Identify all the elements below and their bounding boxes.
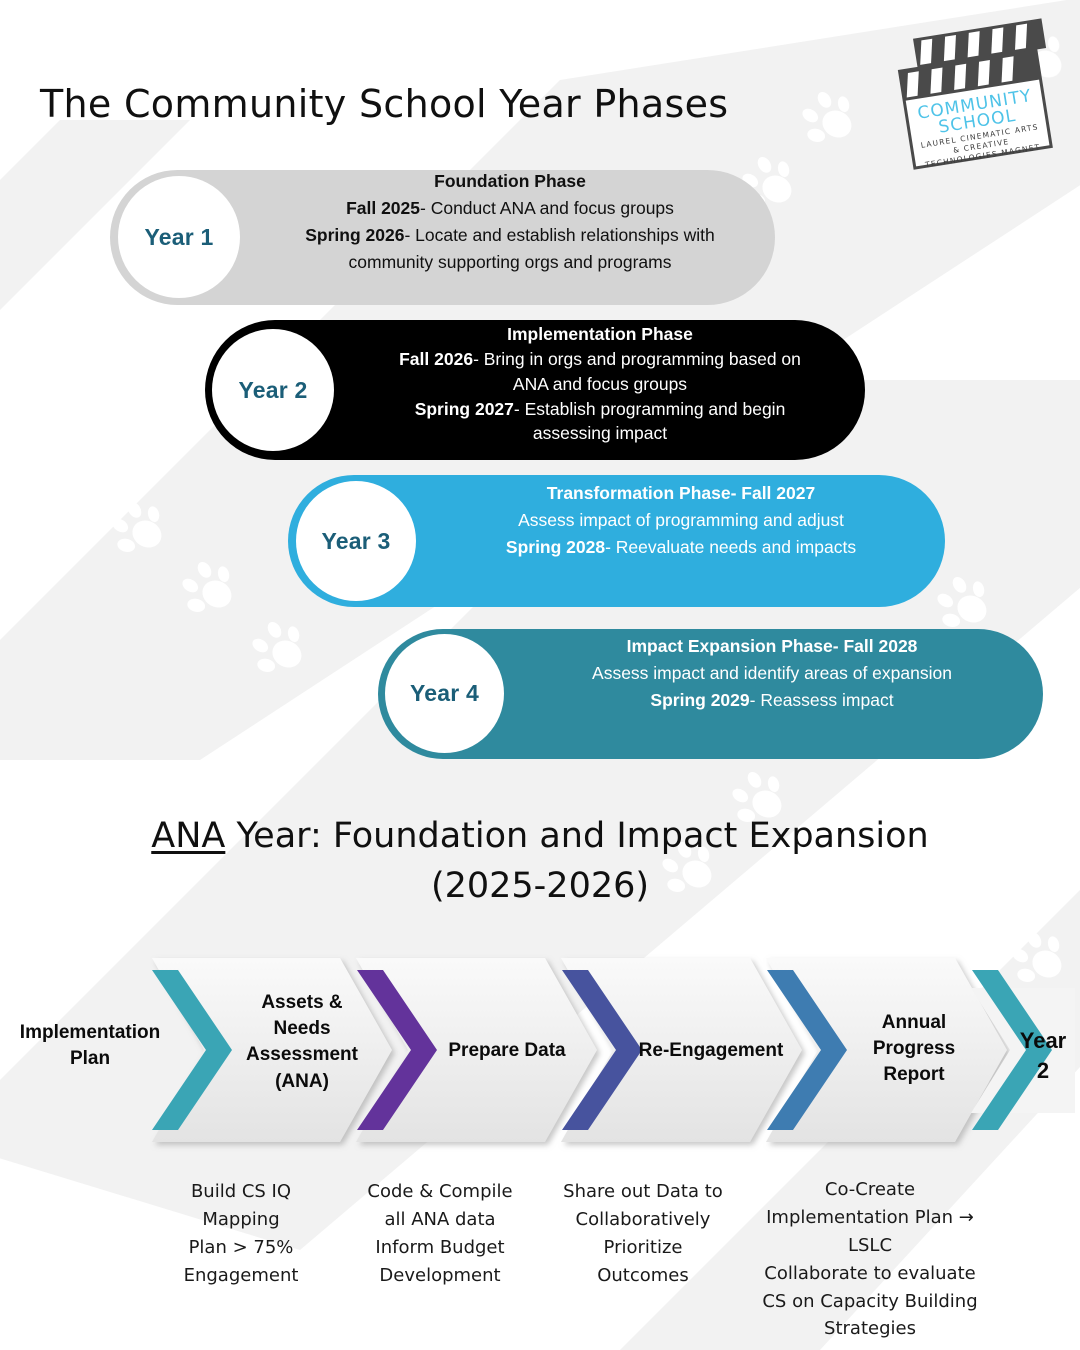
phase-line-4-1: Spring 2029- Reassess impact [513,687,1031,714]
phase-body-year-3: Transformation Phase- Fall 2027 Assess i… [425,480,937,561]
phase-line-3-0: Assess impact of programming and adjust [425,507,937,534]
phase-body-year-4: Impact Expansion Phase- Fall 2028 Assess… [513,633,1031,714]
ana-heading-rest: Year: Foundation and Impact Expansion [225,816,928,856]
page-title: The Community School Year Phases [40,82,728,126]
phase-year-label-3: Year 3 [322,528,391,555]
phase-line-1-0: Fall 2025- Conduct ANA and focus groups [250,195,770,222]
phase-circle-year-1: Year 1 [118,176,240,298]
flow-label-prepare-data: Prepare Data [416,1038,598,1064]
caption-prepare-data: Code & Compileall ANA dataInform BudgetD… [352,1178,528,1290]
flow-label-annual-progress-report: AnnualProgressReport [824,1010,1004,1089]
phase-title-2: Implementation Phase [340,322,860,347]
caption-annual-progress-report: Co-CreateImplementation Plan →LSLCCollab… [748,1176,992,1343]
phase-body-year-2: Implementation Phase Fall 2026- Bring in… [340,322,860,446]
ana-section-heading: ANA Year: Foundation and Impact Expansio… [0,812,1080,911]
phase-circle-year-3: Year 3 [296,481,416,601]
ana-heading-line-1: ANA Year: Foundation and Impact Expansio… [0,812,1080,862]
phase-circle-year-4: Year 4 [385,634,504,753]
ana-heading-line-2: (2025-2026) [0,862,1080,912]
flow-label-implementation-plan: ImplementationPlan [0,1020,180,1072]
caption-re-engagement: Share out Data toCollaborativelyPrioriti… [552,1178,734,1290]
caption-assets-needs-assessment: Build CS IQMappingPlan > 75%Engagement [155,1178,327,1290]
flow-label-assets-needs-assessment: Assets &NeedsAssessment(ANA) [212,990,392,1095]
phase-circle-year-2: Year 2 [212,329,334,451]
phase-body-year-1: Foundation Phase Fall 2025- Conduct ANA … [250,168,770,277]
phase-year-label-4: Year 4 [410,680,479,707]
phase-line-2-0: Fall 2026- Bring in orgs and programming… [340,347,860,372]
phase-year-label-1: Year 1 [145,224,214,251]
phase-line-1-1: Spring 2026- Locate and establish relati… [250,222,770,249]
phase-title-4: Impact Expansion Phase- Fall 2028 [513,633,1031,660]
flow-label-re-engagement: Re-Engagement [616,1038,806,1064]
phase-title-1: Foundation Phase [250,168,770,195]
phase-line-4-0: Assess impact and identify areas of expa… [513,660,1031,687]
phase-line-2-3: assessing impact [340,421,860,446]
process-flow: ImplementationPlan Assets &NeedsAssessme… [0,948,1080,1153]
ana-underlined-word: ANA [151,816,225,856]
phase-line-2-2: Spring 2027- Establish programming and b… [340,397,860,422]
phase-title-3: Transformation Phase- Fall 2027 [425,480,937,507]
phase-line-1-2: community supporting orgs and programs [250,249,770,276]
community-school-clapperboard-logo: COMMUNITY SCHOOL LAUREL CINEMATIC ARTS &… [887,8,1062,173]
phase-line-2-1: ANA and focus groups [340,372,860,397]
phase-year-label-2: Year 2 [239,377,308,404]
flow-label-year-2: Year2 [1006,1026,1080,1087]
phase-line-3-1: Spring 2028- Reevaluate needs and impact… [425,534,937,561]
